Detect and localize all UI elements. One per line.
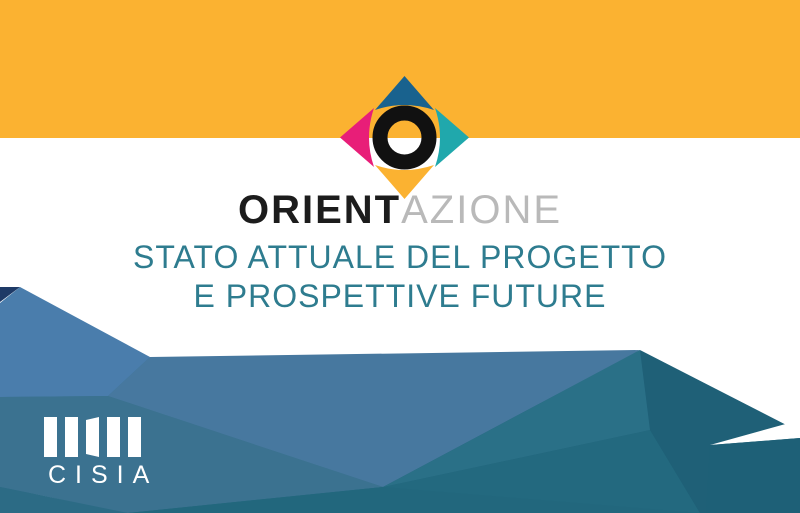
cisia-logo: CISIA bbox=[44, 417, 156, 487]
page-subtitle: STATO ATTUALE DEL PROGETTO E PROSPETTIVE… bbox=[0, 238, 800, 316]
cisia-bars-icon bbox=[44, 417, 156, 457]
arrow-right-icon bbox=[435, 108, 469, 167]
subtitle-line-1: STATO ATTUALE DEL PROGETTO bbox=[0, 238, 800, 277]
wordmark-bold: ORIENT bbox=[238, 188, 401, 232]
subtitle-line-2: E PROSPETTIVE FUTURE bbox=[0, 277, 800, 316]
arrow-up-icon bbox=[375, 76, 434, 110]
orientazione-logo-icon bbox=[337, 70, 472, 205]
wordmark-light: AZIONE bbox=[401, 188, 562, 232]
arrow-left-icon bbox=[340, 108, 374, 167]
ring-icon bbox=[380, 113, 429, 162]
page-title: ORIENTAZIONE bbox=[0, 190, 800, 230]
slide-canvas: ORIENTAZIONE STATO ATTUALE DEL PROGETTO … bbox=[0, 0, 800, 513]
cisia-wordmark: CISIA bbox=[44, 463, 156, 488]
